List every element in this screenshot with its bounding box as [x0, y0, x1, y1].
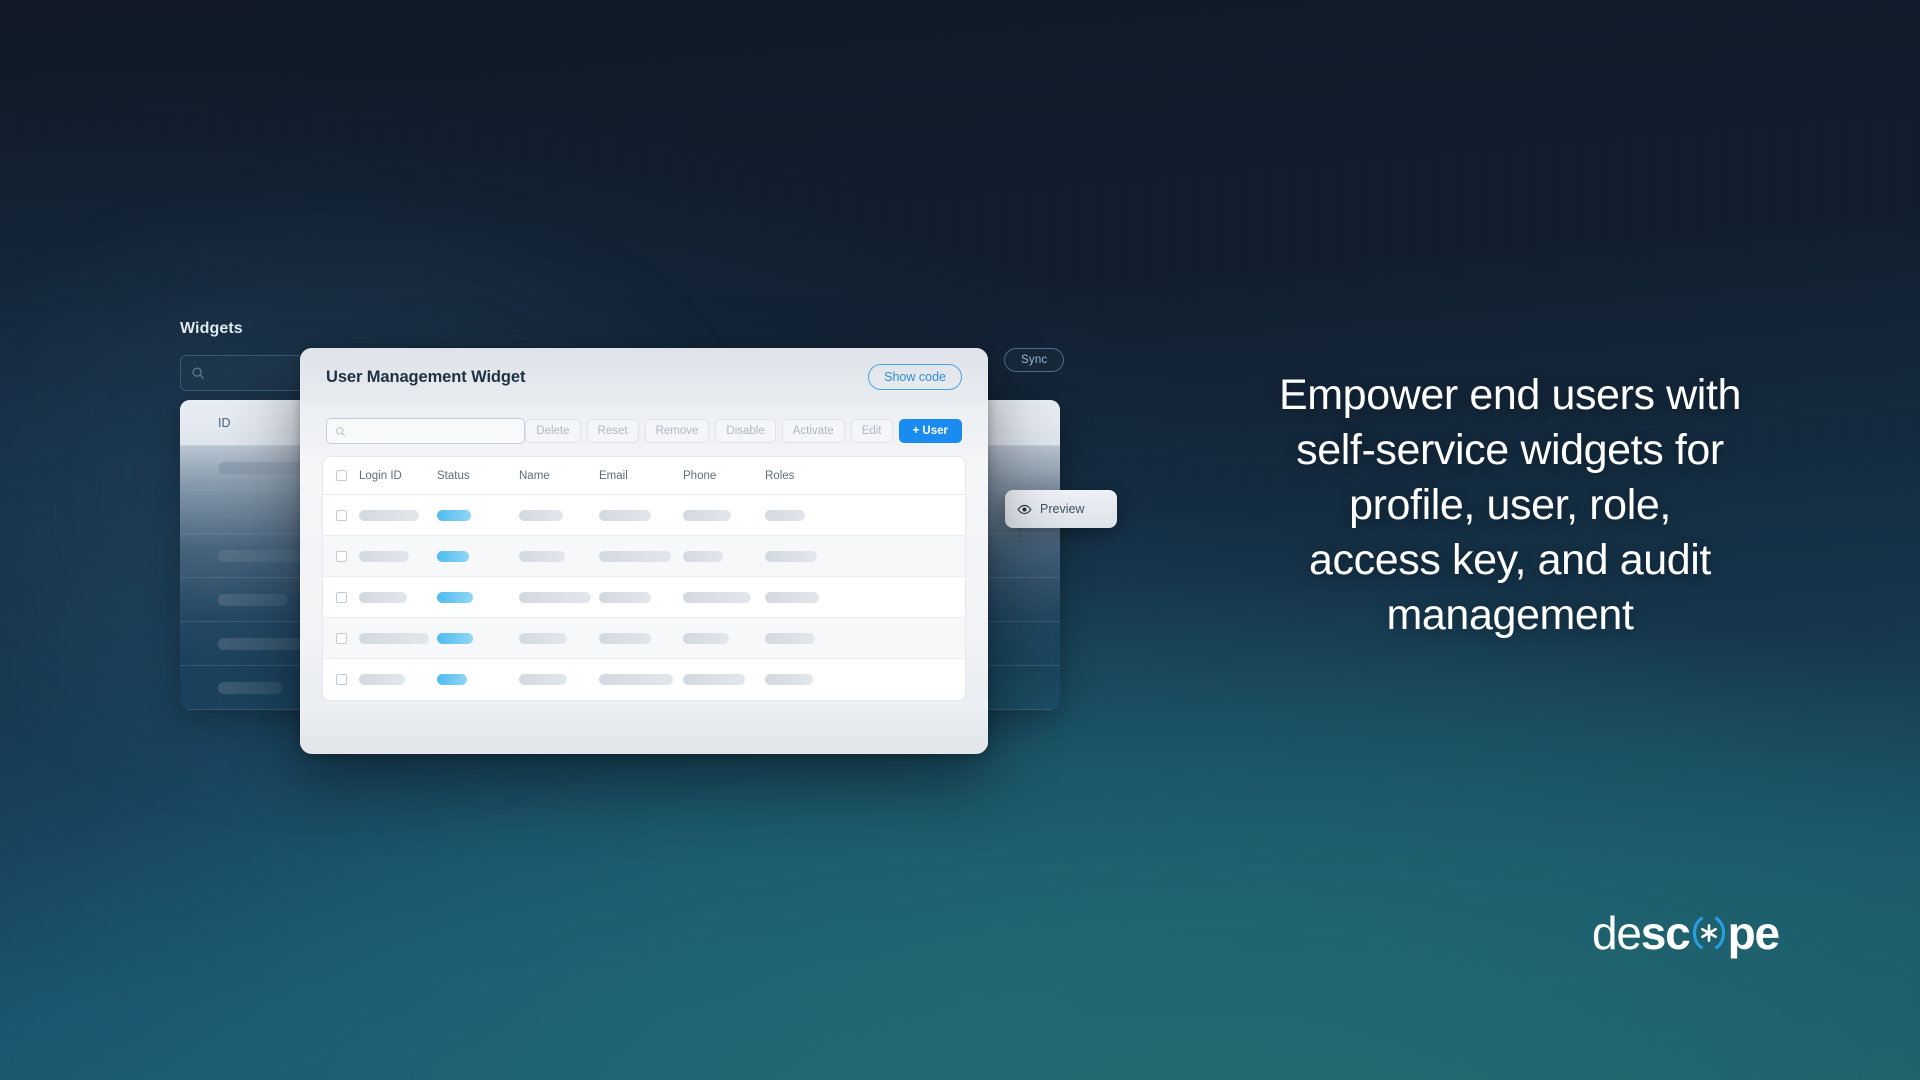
- skeleton-bar: [519, 551, 565, 562]
- skeleton-bar: [519, 633, 567, 644]
- row-checkbox[interactable]: [336, 633, 347, 644]
- select-all-cell[interactable]: [323, 470, 359, 481]
- slide-stage: Widgets ID: [0, 0, 1920, 1080]
- cell-name: [519, 510, 599, 521]
- search-icon: [335, 426, 346, 437]
- skeleton-bar: [599, 551, 671, 562]
- skeleton-bar: [599, 674, 673, 685]
- skeleton-bar: [359, 633, 429, 644]
- cell-roles: [765, 592, 835, 603]
- column-header-email[interactable]: Email: [599, 470, 683, 482]
- disable-button[interactable]: Disable: [715, 419, 775, 443]
- toolbar-actions: Delete Reset Remove Disable Activate Edi…: [525, 419, 962, 443]
- descope-asterisk-icon: [1691, 910, 1727, 956]
- status-pill-skeleton: [437, 592, 473, 603]
- skeleton-bar: [359, 551, 409, 562]
- skeleton-bar: [683, 633, 729, 644]
- cell-roles: [765, 674, 835, 685]
- row-menu-icon[interactable]: [1019, 528, 1022, 543]
- delete-button[interactable]: Delete: [525, 419, 580, 443]
- skeleton-bar: [765, 510, 805, 521]
- logo-text-pe: pe: [1728, 910, 1779, 956]
- select-all-checkbox[interactable]: [336, 470, 347, 481]
- cell-email: [599, 633, 683, 644]
- headline-line: Empower end users with: [1210, 368, 1810, 423]
- column-header-roles[interactable]: Roles: [765, 470, 835, 482]
- logo-text-sc: sc: [1641, 910, 1690, 956]
- headline-line: self-service widgets for: [1210, 423, 1810, 478]
- row-select-cell[interactable]: [323, 510, 359, 521]
- row-select-cell[interactable]: [323, 674, 359, 685]
- row-select-cell[interactable]: [323, 551, 359, 562]
- edit-button[interactable]: Edit: [851, 419, 893, 443]
- skeleton-bar: [359, 674, 405, 685]
- skeleton-bar: [359, 592, 407, 603]
- cell-login: [359, 510, 437, 521]
- column-header-name[interactable]: Name: [519, 470, 599, 482]
- skeleton-bar: [519, 674, 567, 685]
- skeleton-bar: [683, 551, 723, 562]
- skeleton-bar: [683, 510, 731, 521]
- eye-icon: [1017, 502, 1032, 517]
- users-table-header: Login ID Status Name Email Phone Roles: [323, 457, 965, 495]
- row-checkbox[interactable]: [336, 592, 347, 603]
- descope-logo: de sc pe: [1592, 910, 1779, 956]
- logo-text-de: de: [1592, 910, 1641, 956]
- skeleton-bar: [765, 592, 819, 603]
- widget-toolbar: Delete Reset Remove Disable Activate Edi…: [300, 406, 988, 456]
- users-table: Login ID Status Name Email Phone Roles: [322, 456, 966, 701]
- status-pill-skeleton: [437, 510, 471, 521]
- preview-label: Preview: [1040, 502, 1084, 516]
- headline-line: access key, and audit: [1210, 533, 1810, 588]
- column-header-id: ID: [218, 416, 231, 430]
- cell-phone: [683, 551, 765, 562]
- modal-title: User Management Widget: [326, 368, 525, 387]
- skeleton-bar: [359, 510, 419, 521]
- cell-status: [437, 510, 519, 521]
- row-checkbox[interactable]: [336, 510, 347, 521]
- cell-name: [519, 674, 599, 685]
- cell-roles: [765, 551, 835, 562]
- cell-status: [437, 633, 519, 644]
- cell-phone: [683, 510, 765, 521]
- cell-login: [359, 551, 437, 562]
- modal-footer: [300, 701, 988, 747]
- preview-tooltip[interactable]: Preview: [1005, 490, 1117, 528]
- cell-phone: [683, 592, 765, 603]
- skeleton-bar: [765, 551, 817, 562]
- cell-name: [519, 592, 599, 603]
- headline-line: profile, user, role,: [1210, 478, 1810, 533]
- cell-email: [599, 551, 683, 562]
- skeleton-bar: [683, 592, 751, 603]
- row-select-cell[interactable]: [323, 592, 359, 603]
- user-management-widget-modal: User Management Widget Show code Delete …: [300, 348, 988, 754]
- user-search-input[interactable]: [326, 418, 525, 444]
- page-title: Widgets: [180, 320, 243, 338]
- cell-login: [359, 633, 437, 644]
- cell-login: [359, 674, 437, 685]
- cell-phone: [683, 674, 765, 685]
- cell-name: [519, 551, 599, 562]
- status-pill-skeleton: [437, 633, 473, 644]
- skeleton-bar: [765, 633, 815, 644]
- activate-button[interactable]: Activate: [782, 419, 845, 443]
- row-checkbox[interactable]: [336, 551, 347, 562]
- skeleton-bar: [599, 633, 651, 644]
- table-row[interactable]: [323, 536, 965, 577]
- skeleton-bar: [599, 510, 651, 521]
- column-header-login-id[interactable]: Login ID: [359, 470, 437, 482]
- skeleton-bar: [519, 510, 563, 521]
- table-row[interactable]: [323, 495, 965, 536]
- remove-button[interactable]: Remove: [645, 419, 710, 443]
- headline-line: management: [1210, 588, 1810, 643]
- table-row[interactable]: [323, 659, 965, 700]
- headline-text: Empower end users withself-service widge…: [1210, 368, 1810, 643]
- row-select-cell[interactable]: [323, 633, 359, 644]
- cell-phone: [683, 633, 765, 644]
- add-user-button[interactable]: + User: [899, 419, 962, 443]
- reset-button[interactable]: Reset: [587, 419, 639, 443]
- column-header-status[interactable]: Status: [437, 470, 519, 482]
- cell-email: [599, 674, 683, 685]
- cell-email: [599, 510, 683, 521]
- cell-roles: [765, 510, 835, 521]
- sync-button[interactable]: Sync: [1004, 348, 1064, 372]
- table-row[interactable]: [323, 618, 965, 659]
- cell-name: [519, 633, 599, 644]
- row-checkbox[interactable]: [336, 674, 347, 685]
- users-table-body: [323, 495, 965, 700]
- modal-header: User Management Widget Show code: [300, 348, 988, 406]
- skeleton-bar: [599, 592, 651, 603]
- skeleton-bar: [519, 592, 591, 603]
- cell-status: [437, 592, 519, 603]
- status-pill-skeleton: [437, 551, 469, 562]
- cell-login: [359, 592, 437, 603]
- show-code-button[interactable]: Show code: [868, 364, 962, 390]
- table-row[interactable]: [323, 577, 965, 618]
- search-icon: [191, 366, 205, 380]
- status-pill-skeleton: [437, 674, 467, 685]
- cell-email: [599, 592, 683, 603]
- skeleton-bar: [683, 674, 745, 685]
- cell-status: [437, 674, 519, 685]
- cell-roles: [765, 633, 835, 644]
- column-header-phone[interactable]: Phone: [683, 470, 765, 482]
- cell-status: [437, 551, 519, 562]
- skeleton-bar: [765, 674, 813, 685]
